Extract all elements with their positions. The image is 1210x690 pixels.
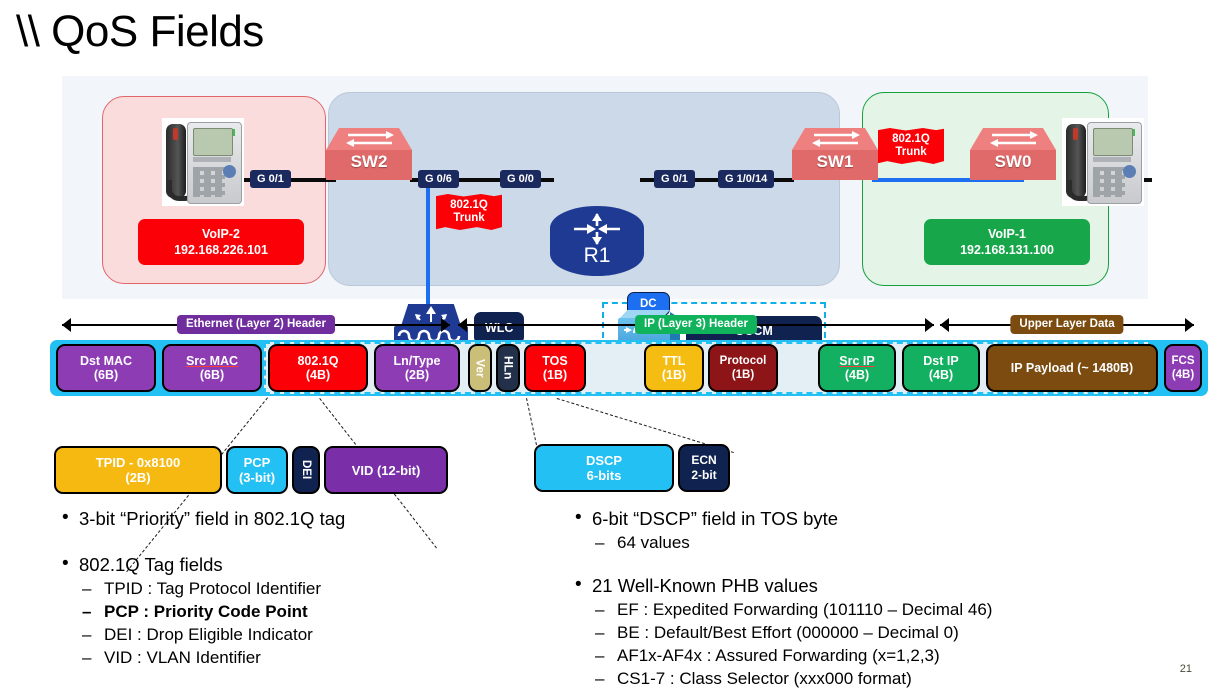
bracket-caption: Upper Layer Data [1010,315,1123,334]
field-name: Protocol [720,354,767,368]
port-g06-sw2: G 0/6 [418,170,459,188]
trunk-flag-line2: Trunk [884,146,938,159]
phone-keypad [193,167,225,197]
field-name: HLn [503,356,514,379]
bullet-r-2: 21 Well-Known PHB values [573,573,992,598]
trunk-flag-line1: 802.1Q [442,199,496,212]
bracket-ethernet-header: Ethernet (Layer 2) Header [62,315,450,335]
bracket-upper-layer-data: Upper Layer Data [940,315,1194,335]
field-size: (4B) [929,368,953,382]
subfield-name: TPID - 0x8100 [96,455,181,470]
field-src-mac[interactable]: Src MAC (6B) [162,344,262,392]
network-topology-panel: SW2 SW1 SW0 [62,76,1148,299]
field-size: (1B) [543,368,567,382]
bullet-r-5: AF1x-AF4x : Assured Forwarding (x=1,2,3) [573,644,992,667]
field-fcs[interactable]: FCS (4B) [1164,344,1202,392]
bullets-right: 6-bit “DSCP” field in TOS byte 64 values… [573,506,992,690]
field-size: (6B) [200,368,224,382]
field-size: (1B) [732,368,754,382]
bullet-r-1: 64 values [573,531,992,554]
field-name: FCS [1172,354,1195,368]
bullet-l-2: TPID : Tag Protocol Identifier [60,577,345,600]
port-g01-voip2: G 0/1 [250,170,291,188]
phone-body [187,122,242,204]
subfield-size: 2-bit [691,468,716,483]
field-dst-mac[interactable]: Dst MAC (6B) [56,344,156,392]
field-name: 802.1Q [297,354,338,368]
port-g01-r1: G 0/1 [654,170,695,188]
field-ln-type[interactable]: Ln/Type (2B) [374,344,460,392]
phone-body [1087,122,1142,204]
subfield-tpid[interactable]: TPID - 0x8100 (2B) [54,446,222,494]
field-size: (4B) [1172,368,1194,382]
bullet-r-4: BE : Default/Best Effort (000000 – Decim… [573,621,992,644]
bracket-ip-header: IP (Layer 3) Header [458,315,934,335]
field-hln[interactable]: HLn [496,344,520,392]
phone-screen [193,128,233,156]
device-label-sw1: SW1 [792,152,878,172]
endpoint-ip: 192.168.131.100 [933,242,1081,258]
trunk-flag-line2: Trunk [442,212,496,225]
device-sw1[interactable]: SW1 [792,128,878,180]
endpoint-label: VoIP-2 [147,226,295,242]
endpoint-tag-voip1: VoIP-1 192.168.131.100 [924,219,1090,265]
subfield-size: (3-bit) [239,470,275,485]
field-size: (4B) [845,368,869,382]
subfield-name: PCP [244,455,271,470]
field-name: TTL [663,354,686,368]
phone-navpad [223,165,236,178]
field-8021q[interactable]: 802.1Q (4B) [268,344,368,392]
page-number: 21 [1180,663,1192,675]
bullet-l-4: DEI : Drop Eligible Indicator [60,623,345,646]
field-size: (4B) [306,368,330,382]
bullet-l-1: 802.1Q Tag fields [60,552,345,577]
phone-screen [1093,128,1133,156]
phone-handset [166,124,186,198]
field-name: Ver [475,359,486,378]
subfield-pcp[interactable]: PCP (3-bit) [226,446,288,494]
page-title: \\ QoS Fields [16,4,264,60]
cable-sw2-ap [426,180,430,306]
bullet-r-6: CS1-7 : Class Selector (xxx000 format) [573,667,992,690]
field-size: (1B) [662,368,686,382]
switch-arrows-icon [808,130,864,150]
subfield-size: 6-bits [587,468,622,483]
trunk-flag-sw1-sw0: 802.1Q Trunk [878,128,944,164]
device-r1[interactable]: R1 [550,206,644,276]
phone-navpad [1123,165,1136,178]
port-g00-r1: G 0/0 [500,170,541,188]
trunk-flag-sw2-ap: 802.1Q Trunk [436,194,502,230]
field-name: Dst IP [923,354,958,368]
router-arrows-icon [570,212,624,246]
device-label-r1: R1 [550,244,644,268]
field-name: Ln/Type [394,354,441,368]
subfield-dei[interactable]: DEI [292,446,320,494]
field-ttl[interactable]: TTL (1B) [644,344,704,392]
bullets-left: 3-bit “Priority” field in 802.1Q tag 802… [60,506,345,669]
phone-handset [1066,124,1086,198]
field-protocol[interactable]: Protocol (1B) [708,344,778,392]
bullet-l-0: 3-bit “Priority” field in 802.1Q tag [60,506,345,531]
bullet-r-3: EF : Expedited Forwarding (101110 – Deci… [573,598,992,621]
subfield-vid[interactable]: VID (12-bit) [324,446,448,494]
subfield-name: VID (12-bit) [352,463,421,478]
switch-arrows-icon [986,130,1042,150]
bracket-caption: IP (Layer 3) Header [635,315,757,334]
device-label-sw2: SW2 [326,152,412,172]
subfield-ecn[interactable]: ECN 2-bit [678,444,730,492]
endpoint-tag-voip2: VoIP-2 192.168.226.101 [138,219,304,265]
device-label-sw0: SW0 [970,152,1056,172]
endpoint-ip: 192.168.226.101 [147,242,295,258]
trunk-flag-line1: 802.1Q [884,133,938,146]
field-tos[interactable]: TOS (1B) [524,344,586,392]
subfield-name: DEI [300,460,312,479]
field-name: IP Payload (~ 1480B) [1011,361,1133,375]
phone-keypad [1093,167,1125,197]
bullet-r-0: 6-bit “DSCP” field in TOS byte [573,506,992,531]
bracket-caption: Ethernet (Layer 2) Header [177,315,335,334]
field-src-ip[interactable]: Src IP (4B) [818,344,896,392]
endpoint-label: VoIP-1 [933,226,1081,242]
field-name: Src MAC [186,354,238,368]
subfield-dscp[interactable]: DSCP 6-bits [534,444,674,492]
field-dst-ip[interactable]: Dst IP (4B) [902,344,980,392]
field-ver[interactable]: Ver [468,344,492,392]
device-voip2-phone[interactable] [162,118,244,206]
device-voip1-phone[interactable] [1062,118,1144,206]
packet-strip: Dst MAC (6B) Src MAC (6B) 802.1Q (4B) Ln… [50,340,1208,396]
subfield-name: DSCP [586,453,622,468]
bullet-l-5: VID : VLAN Identifier [60,646,345,669]
device-sw0[interactable]: SW0 [970,128,1056,180]
field-name: Dst MAC [80,354,132,368]
port-g1014-sw1: G 1/0/14 [718,170,774,188]
field-name: TOS [542,354,567,368]
field-name: Src IP [839,354,874,368]
subfield-size: (2B) [125,470,150,485]
device-sw2[interactable]: SW2 [326,128,412,180]
subfield-name: ECN [691,453,716,468]
field-ip-payload[interactable]: IP Payload (~ 1480B) [986,344,1158,392]
field-size: (6B) [94,368,118,382]
field-size: (2B) [405,368,429,382]
switch-arrows-icon [342,130,398,150]
bullet-l-3: PCP : Priority Code Point [60,600,345,623]
